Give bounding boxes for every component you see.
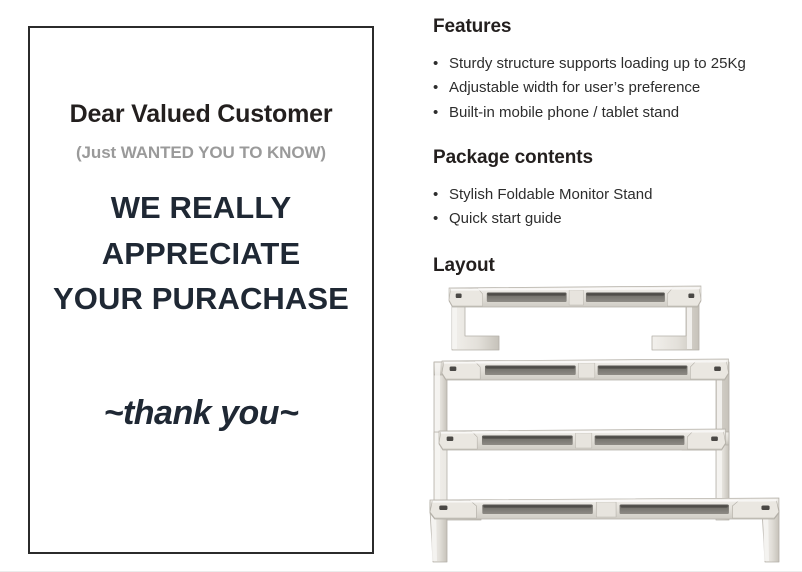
package-contents-list: • Stylish Foldable Monitor Stand • Quick… bbox=[433, 183, 652, 232]
features-list: • Sturdy structure supports loading up t… bbox=[433, 52, 746, 125]
stand-config-1 bbox=[449, 286, 701, 350]
headline-line-3: YOUR PURACHASE bbox=[53, 276, 349, 322]
stand-config-4 bbox=[430, 498, 779, 562]
list-item-label: Adjustable width for user’s preference bbox=[449, 76, 700, 100]
bullet-icon: • bbox=[433, 76, 449, 100]
product-info-panel: Features • Sturdy structure supports loa… bbox=[424, 0, 802, 572]
bullet-icon: • bbox=[433, 101, 449, 125]
layout-heading: Layout bbox=[433, 255, 495, 277]
headline-line-1: WE REALLY bbox=[53, 185, 349, 231]
page-root: Dear Valued Customer (Just WANTED YOU TO… bbox=[0, 0, 802, 572]
layout-illustration bbox=[424, 284, 802, 572]
list-item: • Built-in mobile phone / tablet stand bbox=[433, 101, 746, 125]
card-greeting: Dear Valued Customer bbox=[70, 100, 333, 129]
list-item-label: Built-in mobile phone / tablet stand bbox=[449, 101, 679, 125]
list-item: • Sturdy structure supports loading up t… bbox=[433, 52, 746, 76]
card-subtitle: (Just WANTED YOU TO KNOW) bbox=[76, 143, 326, 163]
thank-you-card: Dear Valued Customer (Just WANTED YOU TO… bbox=[28, 26, 374, 554]
list-item: • Adjustable width for user’s preference bbox=[433, 76, 746, 100]
list-item-label: Quick start guide bbox=[449, 207, 562, 231]
bullet-icon: • bbox=[433, 52, 449, 76]
features-heading: Features bbox=[433, 16, 511, 38]
bullet-icon: • bbox=[433, 183, 449, 207]
list-item: • Quick start guide bbox=[433, 207, 652, 231]
bullet-icon: • bbox=[433, 207, 449, 231]
package-contents-heading: Package contents bbox=[433, 147, 593, 169]
list-item: • Stylish Foldable Monitor Stand bbox=[433, 183, 652, 207]
list-item-label: Sturdy structure supports loading up to … bbox=[449, 52, 746, 76]
card-signoff: ~thank you~ bbox=[104, 394, 299, 433]
headline-line-2: APPRECIATE bbox=[53, 231, 349, 277]
list-item-label: Stylish Foldable Monitor Stand bbox=[449, 183, 652, 207]
card-headline: WE REALLY APPRECIATE YOUR PURACHASE bbox=[53, 185, 349, 322]
